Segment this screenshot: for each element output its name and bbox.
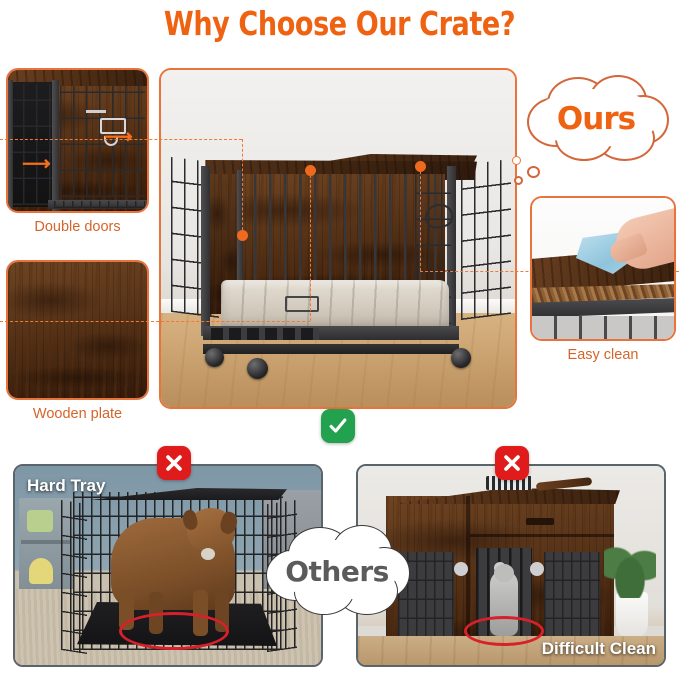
others-thought-bubble: Others xyxy=(262,525,412,617)
pointer-arrow-icon: ⟶ xyxy=(22,154,51,174)
cross-icon xyxy=(501,452,523,474)
main-product-photo xyxy=(161,70,515,407)
potted-plant xyxy=(616,592,648,638)
callout-dot xyxy=(305,165,316,176)
ours-thought-bubble: Ours xyxy=(521,75,671,163)
callout-line-wooden-plate xyxy=(0,321,310,322)
panel-caption-wooden-plate: Wooden plate xyxy=(6,406,149,422)
problem-highlight xyxy=(119,612,229,650)
status-badge-approved xyxy=(321,409,355,443)
status-badge-rejected xyxy=(495,446,529,480)
right-open-door xyxy=(461,159,511,320)
wooden-plate-photo xyxy=(8,262,147,398)
caster-wheel xyxy=(451,348,471,368)
overlay-label-difficult-clean: Difficult Clean xyxy=(542,639,656,659)
callout-line-easy-clean-rise xyxy=(420,166,421,271)
page-title: Why Choose Our Crate? xyxy=(61,4,618,43)
double-doors-photo: ⟶ ⟶ xyxy=(8,70,147,211)
bubble-tail-dot xyxy=(527,166,540,178)
callout-line-wooden-plate-drop xyxy=(310,170,311,321)
check-icon xyxy=(327,415,349,437)
main-product-panel xyxy=(159,68,517,409)
callout-dot xyxy=(237,230,248,241)
pointer-arrow-icon: ⟶ xyxy=(104,127,133,147)
easy-clean-photo xyxy=(532,198,674,339)
callout-line-double-doors xyxy=(0,139,242,140)
feature-panel-easy-clean xyxy=(530,196,676,341)
others-label: Others xyxy=(262,525,412,617)
caster-wheel xyxy=(205,348,224,367)
panel-caption-double-doors: Double doors xyxy=(6,219,149,235)
callout-dot xyxy=(415,161,426,172)
feature-panel-double-doors: ⟶ ⟶ xyxy=(6,68,149,213)
ours-label: Ours xyxy=(521,75,671,163)
status-badge-rejected xyxy=(157,446,191,480)
cross-icon xyxy=(163,452,185,474)
problem-highlight xyxy=(464,616,544,646)
bubble-tail-dot xyxy=(514,176,523,185)
caster-wheel xyxy=(247,358,268,379)
feature-panel-wooden-plate xyxy=(6,260,149,400)
callout-line-double-doors-drop xyxy=(242,139,243,235)
crate-cushion xyxy=(221,280,449,332)
callout-ring xyxy=(512,156,521,165)
panel-caption-easy-clean: Easy clean xyxy=(530,347,676,363)
overlay-label-hard-tray: Hard Tray xyxy=(27,476,105,496)
